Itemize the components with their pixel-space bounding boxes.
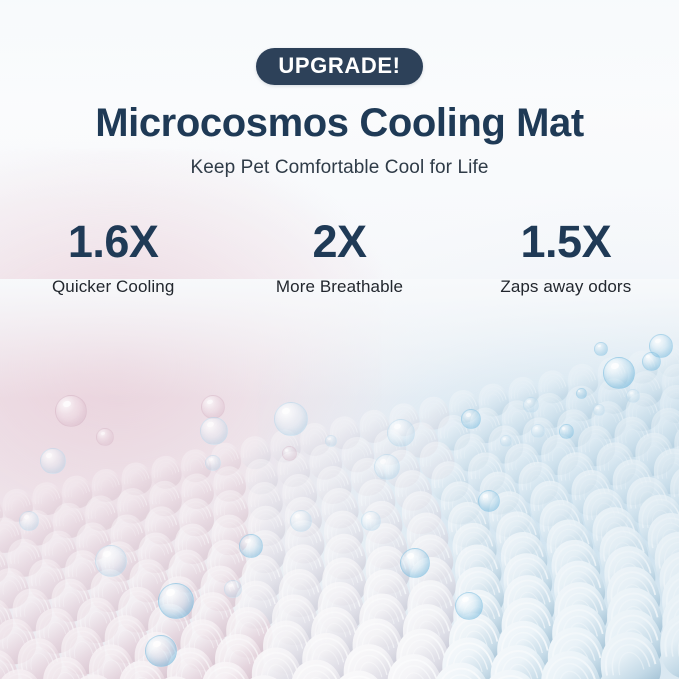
page-title: Microcosmos Cooling Mat xyxy=(0,101,679,146)
stats-row: 1.6X Quicker Cooling 2X More Breathable … xyxy=(0,218,679,297)
cooling-mesh-fabric xyxy=(0,279,679,679)
stat-item-more-breathable: 2X More Breathable xyxy=(226,218,452,297)
stat-value: 2X xyxy=(226,218,452,265)
upgrade-badge: UPGRADE! xyxy=(256,48,422,85)
stat-value: 1.5X xyxy=(453,218,679,265)
page-subtitle: Keep Pet Comfortable Cool for Life xyxy=(0,157,679,179)
stat-label: Quicker Cooling xyxy=(0,277,226,297)
stat-value: 1.6X xyxy=(0,218,226,265)
stat-label: Zaps away odors xyxy=(453,277,679,297)
stat-label: More Breathable xyxy=(226,277,452,297)
header-block: UPGRADE! Microcosmos Cooling Mat Keep Pe… xyxy=(0,0,679,179)
product-marketing-banner: UPGRADE! Microcosmos Cooling Mat Keep Pe… xyxy=(0,0,679,679)
badge-row: UPGRADE! xyxy=(0,48,679,85)
stat-item-zaps-away-odors: 1.5X Zaps away odors xyxy=(453,218,679,297)
stat-item-quicker-cooling: 1.6X Quicker Cooling xyxy=(0,218,226,297)
